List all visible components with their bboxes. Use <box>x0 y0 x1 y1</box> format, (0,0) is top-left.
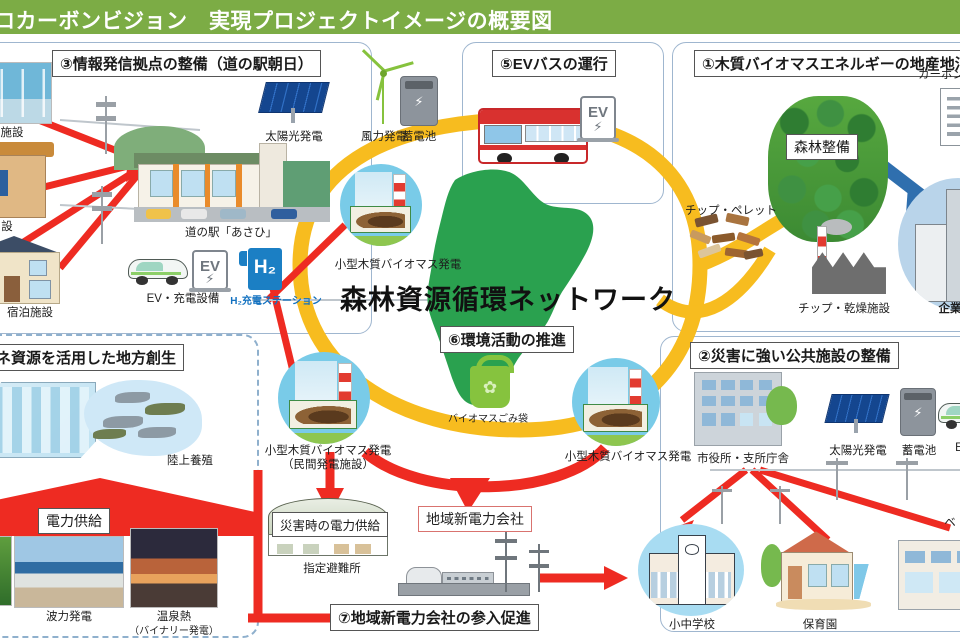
label-battery-s3: 蓄電池 <box>396 128 442 144</box>
caption-section-3: ③情報発信拠点の整備（道の駅朝日） <box>52 50 321 77</box>
label-disaster-power-supply: 災害時の電力供給 <box>272 512 388 537</box>
chip-drying-factory-icon <box>800 222 886 294</box>
battery-icon-s2: ⚡ <box>900 388 936 436</box>
label-right-edge: ベ <box>938 514 960 530</box>
solar-panel-icon-s2 <box>828 394 884 434</box>
label-biomass-top: 小型木質バイオマス発電 <box>318 256 478 272</box>
diagram-canvas: ロカーボンビジョン 実現プロジェクトイメージの概要図 <box>0 0 960 640</box>
label-wave-power: 波力発電 <box>26 608 112 624</box>
label-ev-s2: E <box>944 442 960 454</box>
nursery-icon <box>758 524 884 616</box>
label-solar-s2: 太陽光発電 <box>822 442 894 458</box>
page-title: ロカーボンビジョン 実現プロジェクトイメージの概要図 <box>0 5 553 35</box>
utility-pole-s2-2 <box>896 458 918 500</box>
wood-chips-icon <box>686 214 774 276</box>
cityhall-tree-decor <box>760 384 804 446</box>
utility-pole-s2-4 <box>770 486 790 524</box>
label-facility-1: 施設 <box>0 124 32 140</box>
battery-icon-s3: ⚡ <box>400 76 438 126</box>
label-h2-station: H₂充電ステーション <box>230 292 322 307</box>
ev-bus-icon <box>478 108 588 164</box>
label-lodging: 宿泊施設 <box>0 304 76 320</box>
caption-section-2: ②災害に強い公共施設の整備 <box>690 342 899 369</box>
caption-section-6: ⑥環境活動の推進 <box>440 326 574 353</box>
network-title: 森林資源循環ネットワーク <box>340 278 676 317</box>
michi-no-eki-illustration <box>134 126 330 222</box>
label-power-supply: 電力供給 <box>38 508 110 534</box>
label-biomass-bag: バイオマスごみ袋 <box>418 410 558 425</box>
forest-photo-left <box>0 536 12 606</box>
label-aquaculture: 陸上養殖 <box>152 452 228 468</box>
label-company: 企業 <box>930 300 960 316</box>
utility-pole-1 <box>96 96 116 154</box>
label-carbon-credit: カーボン <box>918 66 960 82</box>
ev-car-icon-s2 <box>938 396 960 430</box>
hydrogen-station-icon: H₂ <box>248 248 282 290</box>
label-chips-pellets: チップ・ペレット <box>676 202 786 218</box>
onsen-binary-photo <box>130 528 218 608</box>
biomass-plant-circle-right <box>572 358 660 446</box>
label-nursery: 保育園 <box>782 616 858 632</box>
pool-photo-cut <box>0 62 52 124</box>
greenhouse-icon <box>0 382 96 458</box>
onsen-building-icon <box>0 140 48 216</box>
utility-pole-s2-3 <box>712 486 732 524</box>
wave-power-photo <box>14 536 124 608</box>
label-shelter: 指定避難所 <box>282 560 382 576</box>
label-facility-2: 設 <box>0 218 22 234</box>
label-forest-maintenance: 森林整備 <box>786 134 858 160</box>
transmission-pylon-2 <box>528 544 550 592</box>
label-biomass-left-2: （民間発電施設） <box>248 456 408 472</box>
page-header: ロカーボンビジョン 実現プロジェクトイメージの概要図 <box>0 0 960 34</box>
ev-charging-station-icon: EV⚡ <box>192 250 228 290</box>
school-icon <box>638 524 744 616</box>
biomass-plant-circle-left <box>278 352 370 444</box>
caption-section-7: ⑦地域新電力会社の参入促進 <box>330 604 539 631</box>
label-school: 小中学校 <box>654 616 730 632</box>
label-onsen-2: （バイナリー発電） <box>126 622 222 637</box>
wind-turbine-icon <box>366 62 400 124</box>
utility-pole-s2-1 <box>826 458 848 500</box>
label-ev-s3: EV・充電設備 <box>128 290 238 306</box>
caption-section-4: ネ資源を活用した地方創生 <box>0 344 184 371</box>
label-michi-no-eki: 道の駅「あさひ」 <box>166 224 296 240</box>
biomass-garbage-bag-icon: ✿ <box>470 366 510 408</box>
ev-charging-station-icon-bus: EV⚡ <box>580 96 616 140</box>
lodging-house-icon <box>0 236 62 302</box>
ev-car-icon <box>128 252 186 286</box>
carbon-credit-document-icon <box>940 88 960 146</box>
label-regional-power-company: 地域新電力会社 <box>418 506 532 532</box>
label-chip-dryer: チップ・乾燥施設 <box>792 300 896 316</box>
public-facility-right-icon <box>898 540 960 610</box>
label-battery-s2: 蓄電池 <box>896 442 942 458</box>
biomass-plant-circle-top <box>340 164 422 246</box>
solar-panel-icon-s3 <box>262 82 324 124</box>
label-biomass-right: 小型木質バイオマス発電 <box>548 448 708 464</box>
utility-pole-2 <box>92 186 112 244</box>
label-city-hall: 市役所・支所庁舎 <box>688 450 798 466</box>
transmission-pylon-1 <box>494 532 518 592</box>
caption-section-5: ⑤EVバスの運行 <box>492 50 616 77</box>
